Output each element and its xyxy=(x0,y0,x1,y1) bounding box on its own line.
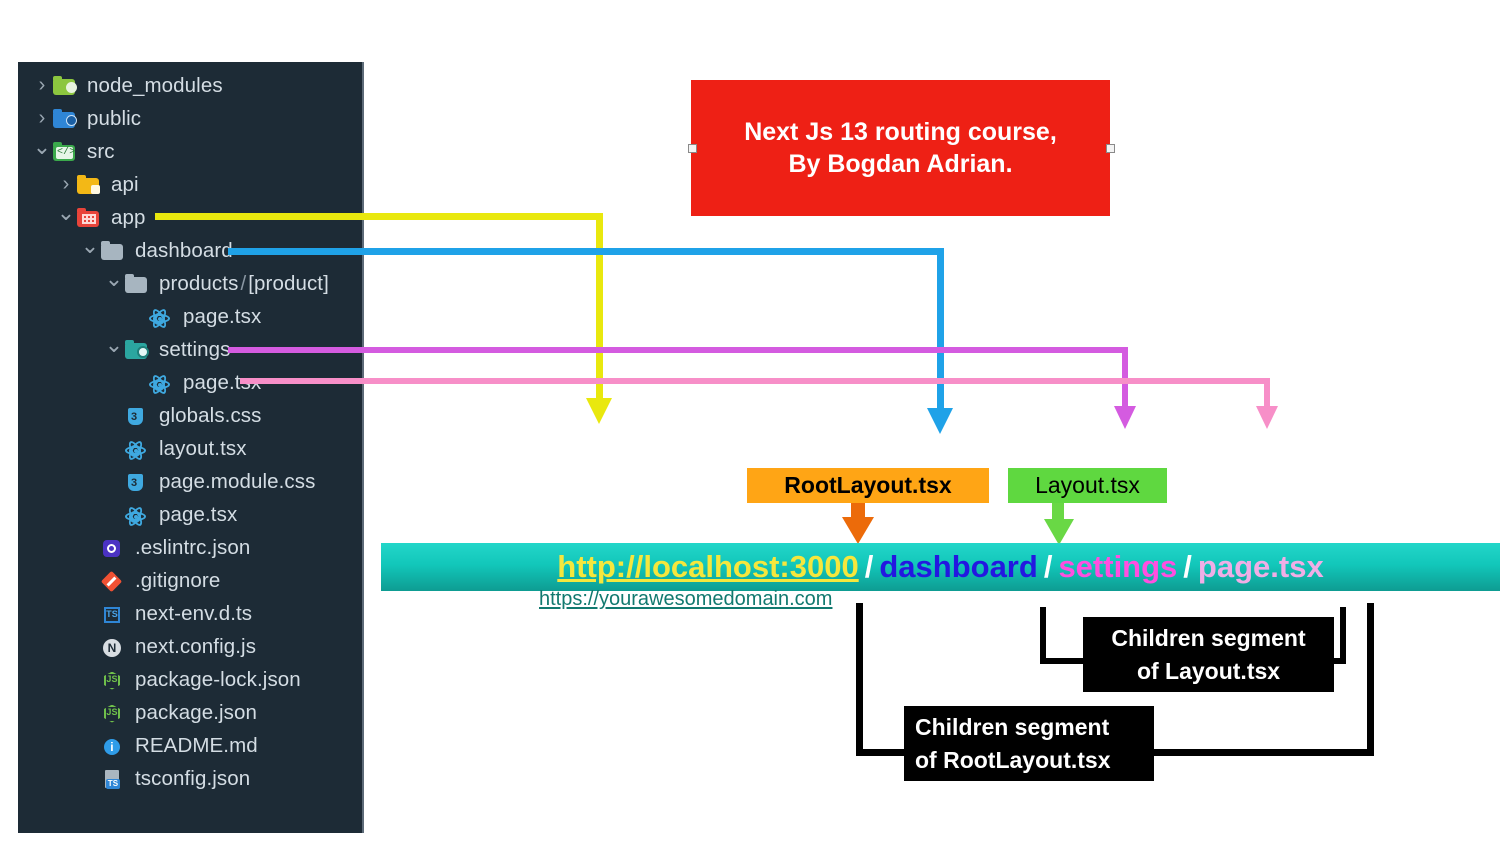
page-connector-horizontal xyxy=(240,378,1270,384)
app-connector-horizontal xyxy=(155,213,603,220)
explorer-row[interactable]: page.tsx xyxy=(104,498,237,531)
explorer-row-label: next.config.js xyxy=(135,635,256,659)
folder-app-icon xyxy=(76,207,102,229)
url-slash-2: / xyxy=(1038,549,1059,585)
explorer-row-label: page.module.css xyxy=(159,470,315,494)
explorer-row[interactable]: JSpackage-lock.json xyxy=(80,663,301,696)
explorer-row-label: page.tsx xyxy=(183,305,261,329)
title-line-2: By Bogdan Adrian. xyxy=(744,148,1057,180)
url-slash-1: / xyxy=(859,549,880,585)
url-path[interactable]: http://localhost:3000 / dashboard / sett… xyxy=(381,543,1500,591)
explorer-row[interactable]: .gitignore xyxy=(80,564,220,597)
explorer-row-label: settings xyxy=(159,338,230,362)
typescript-icon: TS xyxy=(100,603,126,625)
explorer-row-label: .gitignore xyxy=(135,569,220,593)
folder-public-icon xyxy=(52,108,78,130)
explorer-row[interactable]: .eslintrc.json xyxy=(80,531,250,564)
chip-layout[interactable]: Layout.tsx xyxy=(1008,468,1167,503)
explorer-row-label: src xyxy=(87,140,115,164)
dashboard-connector-arrowhead xyxy=(927,408,953,434)
nextjs-icon: N xyxy=(100,636,126,658)
dashboard-connector-horizontal xyxy=(228,248,944,255)
rootlayout-children-box[interactable]: Children segment of RootLayout.tsx xyxy=(904,706,1154,781)
nodejs-icon: JS xyxy=(100,702,126,724)
url-segment-page[interactable]: page.tsx xyxy=(1198,549,1324,585)
explorer-row-label: .eslintrc.json xyxy=(135,536,250,560)
explorer-row[interactable]: ⌄settings xyxy=(104,333,230,366)
chevron-down-icon[interactable]: ⌄ xyxy=(104,340,124,350)
explorer-row-label: public xyxy=(87,107,141,131)
info-icon: i xyxy=(100,735,126,757)
explorer-row-label: package.json xyxy=(135,701,257,725)
explorer-row-label: api xyxy=(111,173,139,197)
explorer-row-label: layout.tsx xyxy=(159,437,247,461)
folder-settings-icon xyxy=(124,339,150,361)
explorer-row[interactable]: iREADME.md xyxy=(80,729,258,762)
explorer-row[interactable]: 3globals.css xyxy=(104,399,262,432)
settings-connector-horizontal xyxy=(228,347,1128,353)
subdomain-label[interactable]: https://yourawesomedomain.com xyxy=(539,588,832,611)
chevron-down-icon[interactable]: ⌄ xyxy=(104,274,124,284)
react-icon xyxy=(124,504,150,526)
nodejs-icon: JS xyxy=(100,669,126,691)
explorer-row-label-dynamic: [product] xyxy=(248,272,329,296)
layout-bracket-right xyxy=(1340,607,1346,664)
tsconfig-icon: TS xyxy=(100,768,126,790)
settings-connector-arrowhead xyxy=(1114,406,1136,429)
explorer-row-label: globals.css xyxy=(159,404,262,428)
explorer-row[interactable]: JSpackage.json xyxy=(80,696,257,729)
title-box[interactable]: Next Js 13 routing course, By Bogdan Adr… xyxy=(691,80,1110,216)
dashboard-connector-vertical xyxy=(937,248,944,411)
folder-src-icon: </> xyxy=(52,141,78,163)
explorer-row-label: app xyxy=(111,206,146,230)
explorer-row[interactable]: ⌄dashboard xyxy=(80,234,233,267)
app-connector-arrowhead xyxy=(586,398,612,424)
explorer-row-label: tsconfig.json xyxy=(135,767,250,791)
react-icon xyxy=(148,306,174,328)
explorer-row[interactable]: ⌄</>src xyxy=(32,135,115,168)
chevron-down-icon[interactable]: ⌄ xyxy=(56,208,76,218)
explorer-row[interactable]: 3page.module.css xyxy=(104,465,315,498)
explorer-row[interactable]: ›api xyxy=(56,168,139,201)
chip-rootlayout[interactable]: RootLayout.tsx xyxy=(747,468,989,503)
explorer-row[interactable]: TSnext-env.d.ts xyxy=(80,597,252,630)
url-host[interactable]: http://localhost:3000 xyxy=(557,549,858,585)
explorer-row[interactable]: ›node_modules xyxy=(32,69,223,102)
chevron-right-icon[interactable]: › xyxy=(32,74,52,97)
chevron-right-icon[interactable]: › xyxy=(32,107,52,130)
folder-icon xyxy=(100,240,126,262)
explorer-row-label: products xyxy=(159,272,238,296)
path-separator: / xyxy=(238,272,248,296)
explorer-row-label: node_modules xyxy=(87,74,223,98)
rootlayout-arrowhead xyxy=(842,517,874,544)
url-segment-dashboard[interactable]: dashboard xyxy=(879,549,1037,585)
file-explorer[interactable]: ›node_modules›public⌄</>src›api⌄app⌄dash… xyxy=(18,62,364,833)
css-icon: 3 xyxy=(124,405,150,427)
selection-handle-left[interactable] xyxy=(688,144,697,153)
chevron-down-icon[interactable]: ⌄ xyxy=(32,142,52,152)
css-icon: 3 xyxy=(124,471,150,493)
selection-handle-right[interactable] xyxy=(1106,144,1115,153)
folder-api-icon xyxy=(76,174,102,196)
react-icon xyxy=(148,372,174,394)
app-connector-vertical xyxy=(596,213,603,401)
explorer-row-label: next-env.d.ts xyxy=(135,602,252,626)
git-icon xyxy=(100,570,126,592)
chip-rootlayout-label: RootLayout.tsx xyxy=(784,472,951,499)
layout-children-box[interactable]: Children segment of Layout.tsx xyxy=(1083,617,1334,692)
explorer-row[interactable]: TStsconfig.json xyxy=(80,762,250,795)
explorer-row[interactable]: ⌄products/[product] xyxy=(104,267,329,300)
layout-bracket-left xyxy=(1040,607,1046,664)
url-slash-3: / xyxy=(1177,549,1198,585)
explorer-row[interactable]: Nnext.config.js xyxy=(80,630,256,663)
explorer-row[interactable]: layout.tsx xyxy=(104,432,247,465)
eslint-icon xyxy=(100,537,126,559)
page-connector-vertical xyxy=(1264,378,1270,409)
react-icon xyxy=(124,438,150,460)
explorer-row-label: page.tsx xyxy=(159,503,237,527)
explorer-row-label: package-lock.json xyxy=(135,668,301,692)
rootlayout-bracket-left xyxy=(856,603,863,755)
explorer-row-label: dashboard xyxy=(135,239,233,263)
chevron-down-icon[interactable]: ⌄ xyxy=(80,241,100,251)
title-line-1: Next Js 13 routing course, xyxy=(744,116,1057,148)
chip-layout-label: Layout.tsx xyxy=(1035,472,1140,499)
explorer-row[interactable]: page.tsx xyxy=(128,300,261,333)
chevron-right-icon[interactable]: › xyxy=(56,173,76,196)
url-segment-settings[interactable]: settings xyxy=(1058,549,1177,585)
explorer-row[interactable]: ⌄app xyxy=(56,201,146,234)
explorer-row[interactable]: ›public xyxy=(32,102,141,135)
folder-node-modules-icon xyxy=(52,75,78,97)
layout-arrowhead xyxy=(1044,519,1074,545)
page-connector-arrowhead xyxy=(1256,406,1278,429)
explorer-row-label: README.md xyxy=(135,734,258,758)
folder-icon xyxy=(124,273,150,295)
rootlayout-bracket-right xyxy=(1367,603,1374,755)
